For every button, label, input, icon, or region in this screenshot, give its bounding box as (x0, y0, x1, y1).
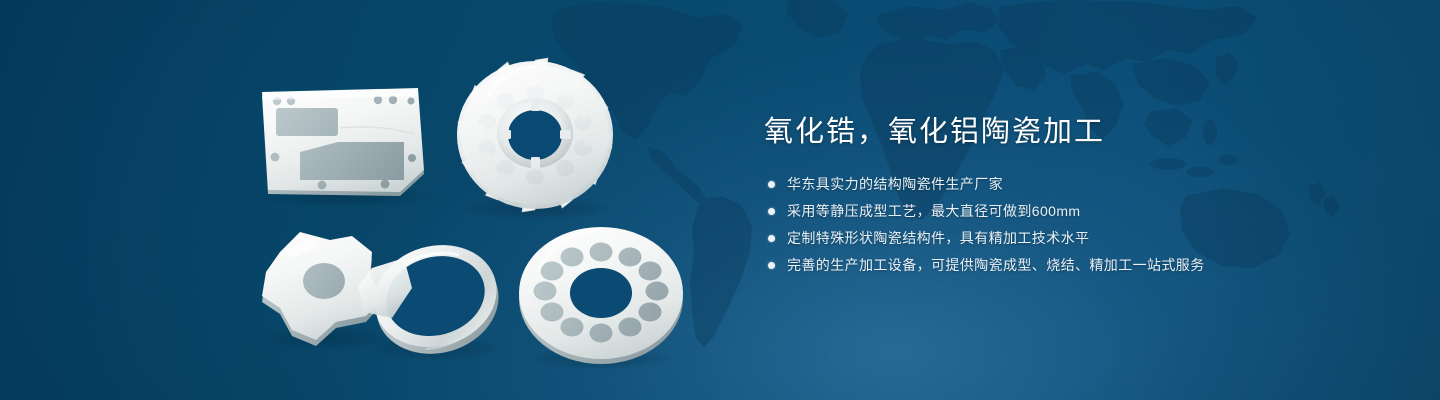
bullet-dot-icon (768, 181, 775, 188)
list-item: 完善的生产加工设备，可提供陶瓷成型、烧结、精加工一站式服务 (764, 255, 1404, 275)
region-japan (1216, 52, 1238, 86)
list-item: 采用等静压成型工艺，最大直径可做到600mm (764, 201, 1404, 221)
shadow-plate (252, 184, 436, 208)
impeller-rim (457, 61, 613, 209)
ring-backplate (358, 258, 412, 318)
page-title: 氧化锆，氧化铝陶瓷加工 (764, 112, 1404, 152)
hero-banner: 氧化锆，氧化铝陶瓷加工 华东具实力的结构陶瓷件生产厂家 采用等静压成型工艺，最大… (0, 0, 1440, 400)
feature-text: 华东具实力的结构陶瓷件生产厂家 (787, 174, 1003, 194)
continent-south-america (690, 196, 752, 348)
product-ceramic-cross-part (250, 225, 400, 350)
list-item: 华东具实力的结构陶瓷件生产厂家 (764, 174, 1404, 194)
bullet-dot-icon (768, 208, 775, 215)
list-item: 定制特殊形状陶瓷结构件，具有精加工技术水平 (764, 228, 1404, 248)
shadow-impeller (456, 195, 616, 221)
impeller-keyways (500, 100, 571, 168)
ceramic-products-photo (0, 0, 720, 400)
shadow-disc (525, 346, 677, 370)
banner-copy: 氧化锆，氧化铝陶瓷加工 华东具实力的结构陶瓷件生产厂家 采用等静压成型工艺，最大… (764, 112, 1404, 282)
continent-north-america (550, 2, 742, 140)
impeller-vanes (453, 53, 617, 217)
impeller-hub (497, 98, 573, 168)
shadow-cross (258, 326, 390, 350)
continent-greenland (786, 0, 848, 38)
product-ceramic-impeller (450, 53, 625, 220)
region-arabia (1000, 46, 1046, 90)
bullet-dot-icon (768, 262, 775, 269)
product-machined-ceramic-plate (250, 80, 440, 205)
bullet-dot-icon (768, 235, 775, 242)
feature-text: 采用等静压成型工艺，最大直径可做到600mm (787, 201, 1080, 221)
region-east-asia (1132, 58, 1210, 106)
shadow-ring (366, 335, 506, 361)
ring-bore (377, 245, 495, 348)
continent-europe (876, 2, 1000, 44)
impeller-bore (508, 110, 562, 160)
feature-list: 华东具实力的结构陶瓷件生产厂家 采用等静压成型工艺，最大直径可做到600mm 定… (764, 174, 1404, 275)
disc-center-bore (570, 268, 632, 318)
product-perforated-ceramic-disc (510, 220, 695, 370)
continent-central-america (648, 146, 706, 204)
continent-asia (998, 0, 1258, 74)
product-ceramic-ring (362, 231, 511, 368)
feature-text: 定制特殊形状陶瓷结构件，具有精加工技术水平 (787, 228, 1089, 248)
impeller-blades (458, 58, 612, 212)
feature-text: 完善的生产加工设备，可提供陶瓷成型、烧结、精加工一站式服务 (787, 255, 1205, 275)
